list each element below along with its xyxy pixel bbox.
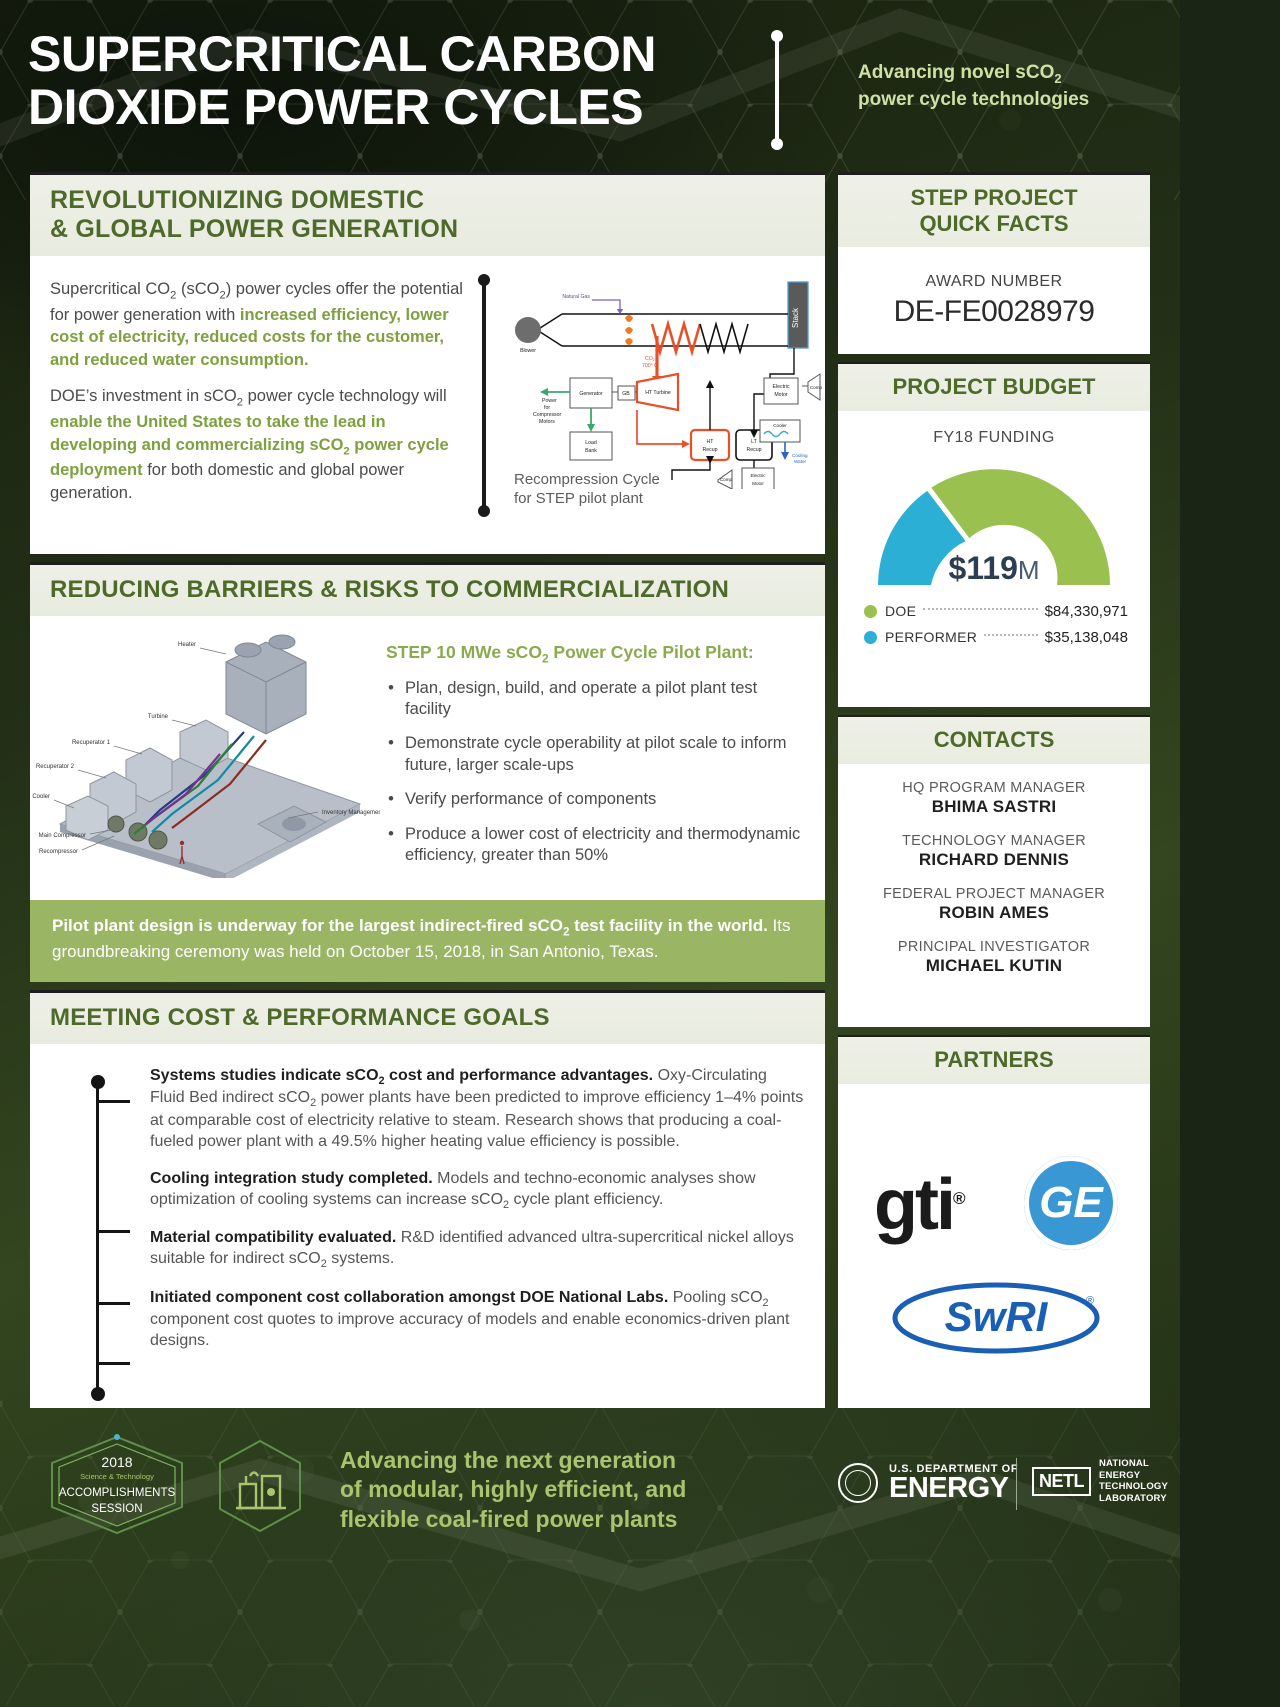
- budget-legend: DOE $84,330,971 PERFORMER $35,138,048: [864, 603, 1128, 646]
- section1-paragraph-2: DOE’s investment in sCO2 power cycle tec…: [50, 385, 466, 504]
- label-power-for: Power: [542, 398, 557, 404]
- label-lt-recup2: Recup: [747, 447, 762, 453]
- contact-entry: FEDERAL PROJECT MANAGER ROBIN AMES: [838, 886, 1150, 923]
- subhead-b: Power Cycle Pilot Plant:: [549, 642, 754, 662]
- award-number-value: DE-FE0028979: [838, 295, 1150, 329]
- label-electric-motor2: Motor: [774, 392, 788, 398]
- contact-name: MICHAEL KUTIN: [838, 956, 1150, 976]
- section1-heading-line-2: & GLOBAL POWER GENERATION: [50, 215, 458, 243]
- list-item: Demonstrate cycle operability at pilot s…: [386, 733, 807, 776]
- section1-heading: REVOLUTIONIZING DOMESTIC & GLOBAL POWER …: [30, 172, 825, 256]
- power-plant-hex-icon: [212, 1438, 308, 1534]
- netl-line-3: TECHNOLOGY: [1099, 1481, 1168, 1492]
- recompression-cycle-svg: Stack Blower Natural Gas: [502, 274, 822, 489]
- fy-funding-label: FY18 FUNDING: [838, 429, 1150, 447]
- label-generator: Generator: [579, 391, 603, 397]
- badge-subtitle: Science & Technology: [80, 1472, 154, 1481]
- goal-bold-a: Material compatibility evaluated.: [150, 1229, 396, 1246]
- goal-bold-b: cost and performance advantages.: [385, 1067, 654, 1084]
- timeline-tick: [96, 1230, 130, 1233]
- panel-project-budget: PROJECT BUDGET FY18 FUNDING $119M DOE $8…: [838, 362, 1150, 707]
- list-item: Produce a lower cost of electricity and …: [386, 824, 807, 867]
- footer-tagline-line-1: Advancing the next generation: [340, 1447, 676, 1473]
- section1-heading-line-1: REVOLUTIONIZING DOMESTIC: [50, 186, 424, 214]
- section-meeting-goals: MEETING COST & PERFORMANCE GOALS Systems…: [30, 990, 825, 1408]
- footer-tagline: Advancing the next generation of modular…: [340, 1446, 740, 1534]
- p2-b: power cycle technology will: [243, 387, 447, 405]
- legend-dot-doe: [864, 605, 877, 618]
- budget-total-unit: M: [1018, 555, 1040, 585]
- budget-total-value: $119M: [871, 550, 1117, 587]
- timeline-rule: [96, 1082, 99, 1394]
- budget-gauge-chart: $119M: [871, 461, 1117, 589]
- p2-emphasis-a: enable the United States to take the lea…: [50, 413, 386, 454]
- header-divider-dot-bottom: [771, 138, 783, 150]
- badge-year: 2018: [101, 1454, 132, 1470]
- goal-bold-a: Systems studies indicate sCO: [150, 1067, 379, 1084]
- label-recompressor: Recompressor: [39, 849, 78, 855]
- doe-energy-label: ENERGY: [889, 1475, 1018, 1503]
- label-main-compressor: Main Compressor: [39, 833, 86, 839]
- doe-seal-icon: [838, 1463, 878, 1503]
- budget-total-number: $119: [948, 550, 1017, 586]
- section3-heading: MEETING COST & PERFORMANCE GOALS: [30, 990, 825, 1044]
- badge-accomplishments: ACCOMPLISHMENTS: [59, 1487, 176, 1499]
- section1-body-text: Supercritical CO2 (sCO2) power cycles of…: [30, 274, 482, 519]
- title-line-1: SUPERCRITICAL CARBON: [28, 26, 656, 82]
- contact-role: PRINCIPAL INVESTIGATOR: [838, 939, 1150, 955]
- netl-line-2: ENERGY: [1099, 1470, 1140, 1481]
- label-cooling-water2: Water: [794, 459, 807, 464]
- contacts-heading: CONTACTS: [838, 715, 1150, 764]
- quick-facts-heading-line-1: STEP PROJECT: [910, 185, 1077, 210]
- legend-row: PERFORMER $35,138,048: [864, 629, 1128, 646]
- contact-name: ROBIN AMES: [838, 903, 1150, 923]
- label-lt-recup: LT: [751, 439, 757, 445]
- list-item: Verify performance of components: [386, 789, 807, 810]
- goal-item: Initiated component cost collaboration a…: [150, 1288, 805, 1352]
- label-power-for2: for: [544, 405, 550, 411]
- legend-value-doe: $84,330,971: [1045, 603, 1128, 620]
- ge-logo: GE: [1024, 1156, 1118, 1250]
- section-revolutionizing: REVOLUTIONIZING DOMESTIC & GLOBAL POWER …: [30, 172, 825, 554]
- page-title: SUPERCRITICAL CARBON DIOXIDE POWER CYCLE…: [28, 28, 728, 133]
- header-divider-rule: [775, 36, 779, 146]
- label-comp-bottom: Comp: [720, 477, 733, 482]
- section2-bullet-list: Plan, design, build, and operate a pilot…: [386, 678, 807, 867]
- goal-item: Systems studies indicate sCO2 cost and p…: [150, 1066, 805, 1153]
- svg-text:®: ®: [1086, 1295, 1094, 1307]
- fig-cap-line-2: for STEP pilot plant: [514, 490, 643, 507]
- label-electric-motor-b: Electric: [750, 473, 766, 478]
- panel-quick-facts: STEP PROJECT QUICK FACTS AWARD NUMBER DE…: [838, 172, 1150, 354]
- legend-value-performer: $35,138,048: [1045, 629, 1128, 646]
- netl-line-4: LABORATORY: [1099, 1493, 1167, 1504]
- label-recuperator1: Recuperator 1: [72, 740, 111, 746]
- label-power-for3: Compressor: [533, 412, 562, 418]
- label-ht-turbine: HT Turbine: [645, 390, 671, 396]
- legend-dot-performer: [864, 631, 877, 644]
- goal-bold-a: Initiated component cost collaboration a…: [150, 1289, 668, 1306]
- award-number-label: AWARD NUMBER: [838, 273, 1150, 291]
- label-inventory: Inventory Management: [322, 810, 380, 816]
- footer-logo-separator: [1016, 1458, 1017, 1510]
- footer-tagline-line-2: of modular, highly efficient, and: [340, 1476, 686, 1502]
- partners-heading: PARTNERS: [838, 1035, 1150, 1084]
- tagline-subscript: 2: [1054, 71, 1061, 86]
- recompression-cycle-diagram: Stack Blower Natural Gas: [486, 274, 825, 519]
- callout-bold-a: Pilot plant design is underway for the l…: [52, 916, 563, 935]
- doe-logo: U.S. DEPARTMENT OF ENERGY: [838, 1463, 1018, 1503]
- netl-wordmark: NATIONAL ENERGY TECHNOLOGY LABORATORY: [1099, 1458, 1168, 1504]
- gti-logo: gti®: [874, 1164, 966, 1246]
- goal-text-b: component cost quotes to improve accurac…: [150, 1311, 789, 1349]
- label-comp-top: Comp: [810, 385, 822, 390]
- contact-entry: PRINCIPAL INVESTIGATOR MICHAEL KUTIN: [838, 939, 1150, 976]
- poster-footer: 2018 Science & Technology ACCOMPLISHMENT…: [0, 1408, 1180, 1707]
- swri-logo: SwRI ®: [890, 1278, 1102, 1356]
- header-divider-dot-top: [771, 30, 783, 42]
- netl-line-1: NATIONAL: [1099, 1458, 1149, 1469]
- label-recuperator2: Recuperator 2: [36, 764, 75, 770]
- svg-text:SwRI: SwRI: [945, 1293, 1049, 1340]
- label-turbine: Turbine: [148, 714, 169, 720]
- subhead-sub: 2: [542, 652, 549, 666]
- p1-a: Supercritical CO: [50, 280, 170, 298]
- p1-b: (sCO: [176, 280, 219, 298]
- contact-entry: TECHNOLOGY MANAGER RICHARD DENNIS: [838, 833, 1150, 870]
- legend-leader-dots: [984, 634, 1037, 636]
- contact-name: RICHARD DENNIS: [838, 850, 1150, 870]
- contact-role: FEDERAL PROJECT MANAGER: [838, 886, 1150, 902]
- contact-role: TECHNOLOGY MANAGER: [838, 833, 1150, 849]
- poster-header: SUPERCRITICAL CARBON DIOXIDE POWER CYCLE…: [0, 0, 1180, 172]
- goal-item: Cooling integration study completed. Mod…: [150, 1169, 805, 1212]
- label-temp: 700° C: [642, 363, 658, 369]
- callout-bold-b: test facility in the world.: [569, 916, 767, 935]
- panel-partners: PARTNERS gti® GE SwRI ®: [838, 1035, 1150, 1408]
- gti-registered-icon: ®: [953, 1189, 966, 1208]
- label-gearbox: GB: [622, 391, 630, 397]
- label-co2: CO2: [645, 356, 655, 362]
- goal-item: Material compatibility evaluated. R&D id…: [150, 1228, 805, 1271]
- netl-logo: NETL NATIONAL ENERGY TECHNOLOGY LABORATO…: [1032, 1458, 1168, 1504]
- contact-name: BHIMA SASTRI: [838, 797, 1150, 817]
- section2-subheading: STEP 10 MWe sCO2 Power Cycle Pilot Plant…: [386, 642, 807, 666]
- timeline-tick: [96, 1302, 130, 1305]
- badge-session: SESSION: [91, 1503, 142, 1515]
- goal-text-sub: 2: [763, 1297, 769, 1309]
- label-electric-motor: Electric: [772, 384, 789, 390]
- legend-row: DOE $84,330,971: [864, 603, 1128, 620]
- legend-label-doe: DOE: [885, 603, 916, 619]
- goal-text-b: systems.: [327, 1250, 395, 1267]
- pilot-plant-3d-diagram: Heater Turbine Recuperator 1 Recuperator…: [30, 628, 380, 916]
- section1-figure-caption: Recompression Cycle for STEP pilot plant: [514, 471, 660, 509]
- pilot-plant-svg: Heater Turbine Recuperator 1 Recuperator…: [30, 628, 380, 878]
- label-natural-gas: Natural Gas: [562, 294, 590, 300]
- timeline-tick: [96, 1100, 130, 1103]
- label-electric-motor-b2: Motor: [752, 481, 764, 486]
- label-power-for4: Motors: [539, 419, 555, 425]
- contact-role: HQ PROGRAM MANAGER: [838, 780, 1150, 796]
- panel-contacts: CONTACTS HQ PROGRAM MANAGER BHIMA SASTRI…: [838, 715, 1150, 1027]
- label-load-bank2: Bank: [585, 448, 597, 454]
- p2-a: DOE’s investment in sCO: [50, 387, 237, 405]
- quick-facts-heading: STEP PROJECT QUICK FACTS: [838, 172, 1150, 247]
- legend-leader-dots: [923, 608, 1037, 610]
- subhead-a: STEP 10 MWe sCO: [386, 642, 542, 662]
- label-cooler: Cooler: [773, 423, 787, 428]
- section1-paragraph-1: Supercritical CO2 (sCO2) power cycles of…: [50, 278, 466, 371]
- list-item: Plan, design, build, and operate a pilot…: [386, 678, 807, 721]
- tagline-line-1: Advancing novel sCO: [858, 62, 1054, 83]
- label-cooler2: Cooler: [32, 794, 50, 800]
- quick-facts-heading-line-2: QUICK FACTS: [919, 211, 1068, 236]
- label-heater: Heater: [178, 642, 196, 648]
- label-cooling-water: Cooling: [792, 453, 808, 458]
- footer-tagline-line-3: flexible coal-fired power plants: [340, 1506, 677, 1532]
- label-load-bank: Load: [585, 440, 597, 446]
- goal-text-a: Pooling sCO: [668, 1289, 762, 1306]
- tagline-line-2: power cycle technologies: [858, 89, 1089, 110]
- section2-heading: REDUCING BARRIERS & RISKS TO COMMERCIALI…: [30, 562, 825, 616]
- accomplishments-session-badge: 2018 Science & Technology ACCOMPLISHMENT…: [42, 1433, 192, 1537]
- label-ht-recup: HT: [707, 439, 715, 445]
- netl-mark: NETL: [1032, 1467, 1091, 1496]
- timeline-tick: [96, 1362, 130, 1365]
- goal-text-b: cycle plant efficiency.: [509, 1191, 663, 1208]
- legend-label-performer: PERFORMER: [885, 629, 977, 645]
- label-ht-recup2: Recup: [703, 447, 718, 453]
- section-reducing-barriers: REDUCING BARRIERS & RISKS TO COMMERCIALI…: [30, 562, 825, 982]
- budget-heading: PROJECT BUDGET: [838, 362, 1150, 411]
- label-blower: Blower: [520, 348, 536, 354]
- fig-cap-line-1: Recompression Cycle: [514, 471, 660, 488]
- header-tagline: Advancing novel sCO2 power cycle technol…: [858, 60, 1158, 113]
- title-line-2: DIOXIDE POWER CYCLES: [28, 81, 728, 134]
- label-stack: Stack: [791, 307, 800, 328]
- pilot-plant-callout: Pilot plant design is underway for the l…: [30, 900, 825, 982]
- contact-entry: HQ PROGRAM MANAGER BHIMA SASTRI: [838, 780, 1150, 817]
- goal-bold-a: Cooling integration study completed.: [150, 1170, 433, 1187]
